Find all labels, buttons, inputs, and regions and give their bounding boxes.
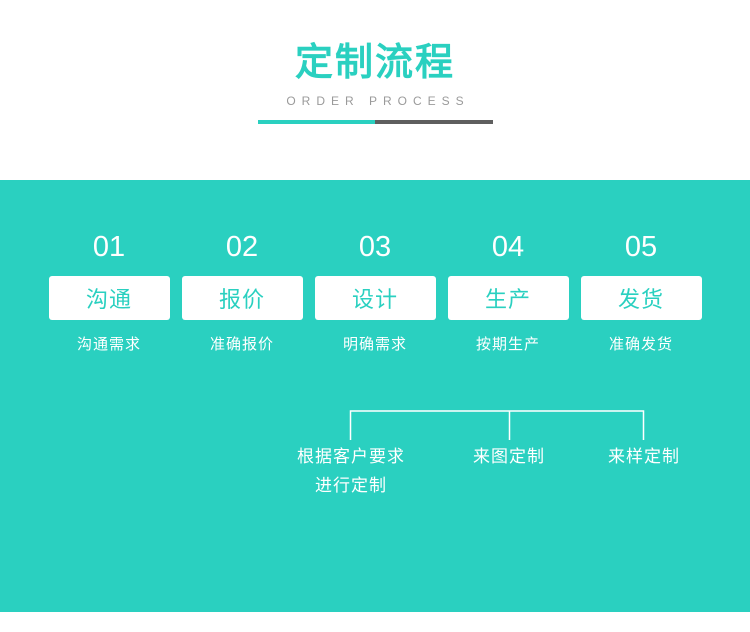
process-step-5[interactable]: 05 发货 准确发货 xyxy=(581,230,702,354)
process-step-3[interactable]: 03 设计 明确需求 xyxy=(315,230,436,354)
title-underline-left xyxy=(258,120,376,124)
step-label: 设计 xyxy=(315,276,436,320)
step-description: 准确发货 xyxy=(609,333,673,354)
process-step-1[interactable]: 01 沟通 沟通需求 xyxy=(49,230,170,354)
process-steps: 01 沟通 沟通需求 02 报价 准确报价 03 设计 明确需求 04 生产 按… xyxy=(0,180,750,354)
note-line-1: 来样定制 xyxy=(578,442,710,471)
page-header: 定制流程 ORDER PROCESS xyxy=(0,0,750,180)
step-label: 生产 xyxy=(448,276,569,320)
step-description: 沟通需求 xyxy=(77,333,141,354)
step-label: 发货 xyxy=(581,276,702,320)
process-step-2[interactable]: 02 报价 准确报价 xyxy=(182,230,303,354)
step-label: 报价 xyxy=(182,276,303,320)
page-subtitle: ORDER PROCESS xyxy=(286,94,469,108)
step-description: 按期生产 xyxy=(476,333,540,354)
note-item: 来样定制 xyxy=(578,442,710,471)
title-underline xyxy=(258,120,493,124)
step-label: 沟通 xyxy=(49,276,170,320)
note-item: 来图定制 xyxy=(443,442,575,471)
note-line-2: 进行定制 xyxy=(255,471,447,500)
note-item: 根据客户要求 进行定制 xyxy=(255,442,447,500)
step-number: 04 xyxy=(492,230,524,264)
step-number: 01 xyxy=(93,230,125,264)
step-number: 03 xyxy=(359,230,391,264)
step-description: 明确需求 xyxy=(343,333,407,354)
step-number: 02 xyxy=(226,230,258,264)
process-panel: 01 沟通 沟通需求 02 报价 准确报价 03 设计 明确需求 04 生产 按… xyxy=(0,180,750,612)
note-line-1: 根据客户要求 xyxy=(255,442,447,471)
page-title: 定制流程 xyxy=(295,40,455,86)
bracket-connector xyxy=(0,410,750,440)
process-step-4[interactable]: 04 生产 按期生产 xyxy=(448,230,569,354)
process-notes: 根据客户要求 进行定制 来图定制 来样定制 xyxy=(0,442,750,532)
step-description: 准确报价 xyxy=(210,333,274,354)
step-number: 05 xyxy=(625,230,657,264)
note-line-1: 来图定制 xyxy=(443,442,575,471)
title-underline-right xyxy=(375,120,493,124)
